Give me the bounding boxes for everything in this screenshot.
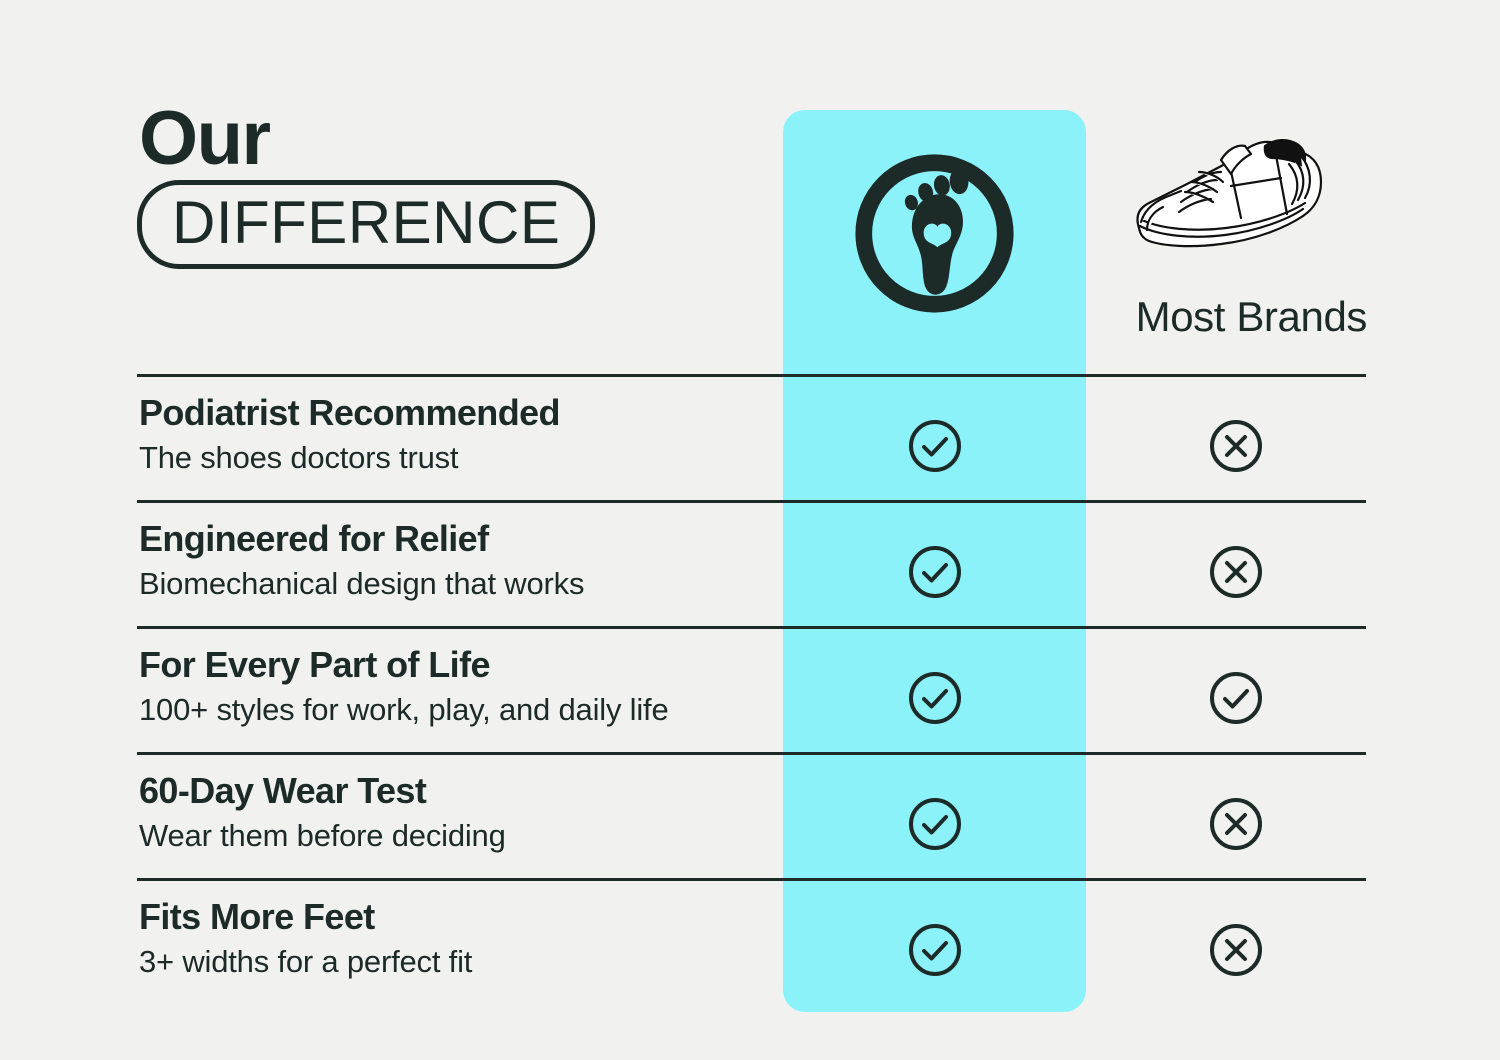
check-circle-icon	[907, 544, 963, 600]
page-title-line-1: Our	[139, 104, 657, 174]
table-row: 60-Day Wear TestWear them before decidin…	[0, 756, 1500, 882]
comparison-table-graphic: Our DIFFERENCE	[0, 0, 1500, 1060]
feature-label: Fits More Feet3+ widths for a perfect fi…	[139, 896, 769, 981]
cross-circle-icon	[1208, 544, 1264, 600]
feature-subtitle: The shoes doctors trust	[139, 439, 769, 476]
row-divider	[137, 752, 1366, 755]
check-circle-icon	[907, 796, 963, 852]
page-title: Our DIFFERENCE	[137, 104, 657, 269]
row-divider	[137, 626, 1366, 629]
feature-title: Fits More Feet	[139, 896, 769, 937]
check-circle-icon	[907, 922, 963, 978]
header-divider	[137, 374, 1366, 377]
feature-label: Podiatrist RecommendedThe shoes doctors …	[139, 392, 769, 477]
feature-title: Engineered for Relief	[139, 518, 769, 559]
table-row: Fits More Feet3+ widths for a perfect fi…	[0, 882, 1500, 1008]
table-row: Podiatrist RecommendedThe shoes doctors …	[0, 378, 1500, 504]
table-row: Engineered for ReliefBiomechanical desig…	[0, 504, 1500, 630]
feature-label: Engineered for ReliefBiomechanical desig…	[139, 518, 769, 603]
check-circle-icon	[907, 670, 963, 726]
footprint-heart-circle-logo-icon	[851, 143, 1018, 325]
table-header: Our DIFFERENCE	[0, 0, 1500, 376]
check-circle-icon	[907, 418, 963, 474]
feature-title: 60-Day Wear Test	[139, 770, 769, 811]
cross-circle-icon	[1208, 796, 1264, 852]
table-row: For Every Part of Life100+ styles for wo…	[0, 630, 1500, 756]
feature-subtitle: Wear them before deciding	[139, 817, 769, 854]
feature-subtitle: 3+ widths for a perfect fit	[139, 943, 769, 980]
feature-title: For Every Part of Life	[139, 644, 769, 685]
cross-circle-icon	[1208, 922, 1264, 978]
check-circle-icon	[1208, 670, 1264, 726]
row-divider	[137, 878, 1366, 881]
feature-rows: Podiatrist RecommendedThe shoes doctors …	[0, 378, 1500, 1008]
page-title-line-2-pill: DIFFERENCE	[137, 180, 595, 269]
cross-circle-icon	[1208, 418, 1264, 474]
sneaker-illustration-icon	[1125, 110, 1375, 285]
feature-label: For Every Part of Life100+ styles for wo…	[139, 644, 769, 729]
competitor-column-label: Most Brands	[1100, 293, 1385, 341]
feature-title: Podiatrist Recommended	[139, 392, 769, 433]
row-divider	[137, 500, 1366, 503]
feature-subtitle: Biomechanical design that works	[139, 565, 769, 602]
feature-subtitle: 100+ styles for work, play, and daily li…	[139, 691, 769, 728]
competitor-column-header: Most Brands	[1100, 110, 1385, 341]
feature-label: 60-Day Wear TestWear them before decidin…	[139, 770, 769, 855]
